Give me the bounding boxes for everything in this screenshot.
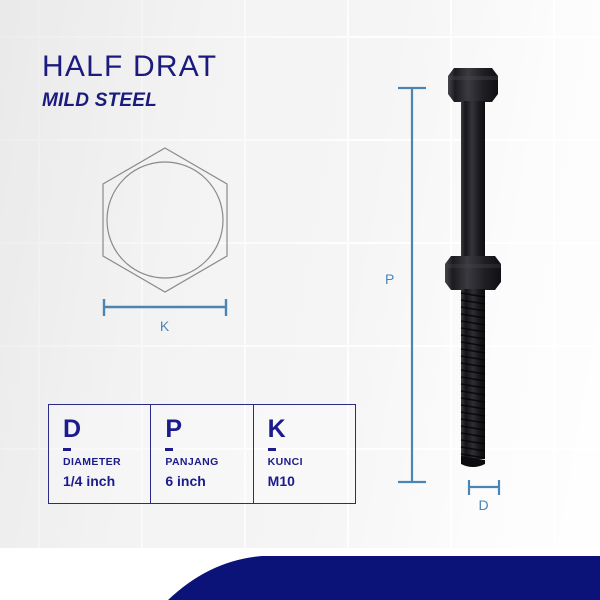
spec-value: M10 [268, 474, 355, 488]
page-subtitle: MILD STEEL [42, 91, 217, 110]
bolt-shank [461, 101, 485, 257]
spec-cell-kunci: K KUNCI M10 [253, 405, 355, 503]
spec-key: K [268, 417, 355, 442]
spec-separator [268, 448, 276, 451]
spec-label: KUNCI [268, 457, 355, 468]
bolt-threads [461, 289, 485, 467]
k-dimension-line [104, 299, 226, 316]
bottom-accent-shape [0, 540, 600, 600]
spec-key: D [63, 417, 150, 442]
spec-label: PANJANG [165, 457, 252, 468]
bolt-illustration-icon [430, 60, 540, 510]
k-dimension-label: K [92, 318, 238, 334]
spec-cell-diameter: D DIAMETER 1/4 inch [49, 405, 150, 503]
product-spec-canvas: HALF DRAT MILD STEEL K D DIAMETER 1/4 in… [0, 0, 600, 600]
title-block: HALF DRAT MILD STEEL [42, 52, 217, 110]
spec-separator [165, 448, 173, 451]
spec-key: P [165, 417, 252, 442]
page-title: HALF DRAT [42, 52, 217, 82]
bolt-product-image [430, 60, 540, 510]
hexagon-outline-icon [92, 142, 238, 342]
spec-table: D DIAMETER 1/4 inch P PANJANG 6 inch K K… [48, 404, 356, 504]
spec-value: 1/4 inch [63, 474, 150, 488]
d-dimension-line [456, 478, 512, 496]
p-dimension-label: P [385, 271, 395, 287]
inscribed-circle-shape [107, 162, 223, 278]
hexagon-shape [103, 148, 227, 292]
d-dimension-label: D [456, 497, 512, 513]
spec-cell-panjang: P PANJANG 6 inch [150, 405, 252, 503]
spec-value: 6 inch [165, 474, 252, 488]
spec-separator [63, 448, 71, 451]
bolt-nut [445, 256, 501, 290]
hexagon-diagram: K [92, 142, 238, 342]
p-dimension-line [392, 80, 432, 490]
bolt-head [448, 68, 498, 102]
spec-label: DIAMETER [63, 457, 150, 468]
